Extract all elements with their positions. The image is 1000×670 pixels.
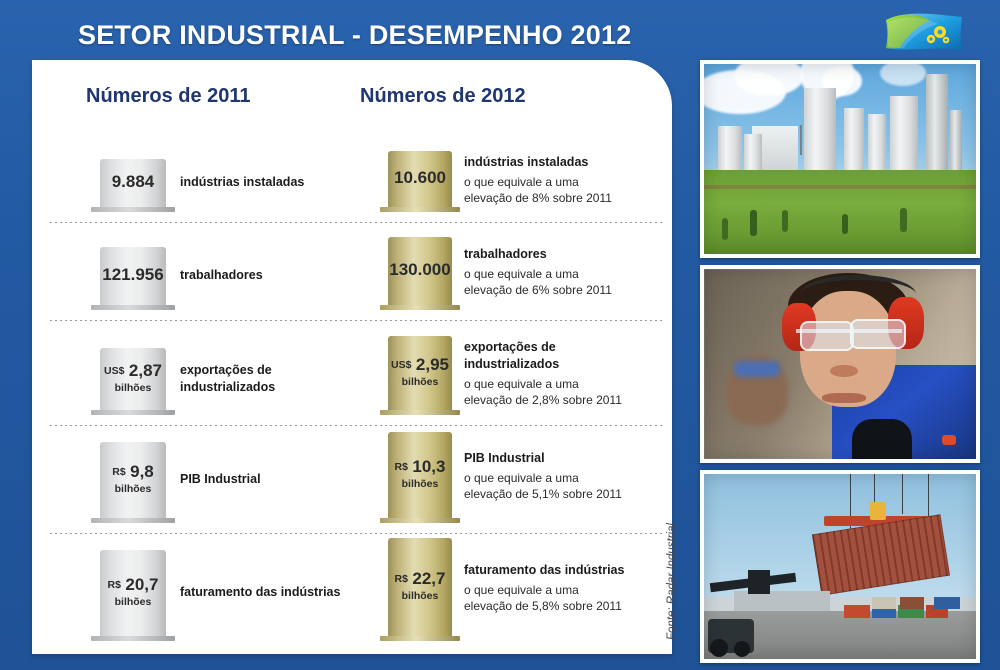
metric-name-2012: trabalhadores <box>464 246 612 263</box>
growth-note: o que equivale a umaelevação de 5,1% sob… <box>464 470 622 502</box>
bar-base-plate <box>380 207 461 212</box>
metric-name-2012: indústrias instaladas <box>464 154 612 171</box>
bar-value: US$ 2,87bilhões <box>100 362 166 394</box>
bar-base-plate <box>380 518 461 523</box>
metric-row: US$ 2,87bilhõesUS$ 2,95bilhõesexportaçõe… <box>32 321 672 426</box>
bar-base-plate <box>91 305 174 310</box>
label-2011: exportações deindustrializados <box>180 362 275 395</box>
value-number: 20,7 <box>125 575 158 594</box>
currency-label: R$ <box>395 461 408 473</box>
currency-label: R$ <box>112 466 125 478</box>
value-number: 9.884 <box>112 172 155 191</box>
value-number: 2,87 <box>129 361 162 380</box>
bar-2011: R$ 9,8bilhões <box>100 442 166 518</box>
page-title: SETOR INDUSTRIAL - DESEMPENHO 2012 <box>78 20 631 51</box>
bar-base-plate <box>91 410 174 415</box>
source-note: Fonte: Radar Industrial <box>666 523 678 640</box>
value-unit: bilhões <box>388 479 452 490</box>
bar-2012: R$ 10,3bilhões <box>388 432 452 518</box>
bar-value: R$ 20,7bilhões <box>100 576 166 608</box>
value-unit: bilhões <box>100 383 166 394</box>
photo-port-container-crane <box>700 470 980 663</box>
currency-label: US$ <box>104 365 124 377</box>
bar-2011: 121.956 <box>100 247 166 305</box>
bar-base-plate <box>380 305 461 310</box>
value-number: 10.600 <box>394 168 446 187</box>
value-unit: bilhões <box>100 597 166 608</box>
growth-note: o que equivale a umaelevação de 8% sobre… <box>464 174 612 206</box>
bar-2012: R$ 22,7bilhões <box>388 538 452 636</box>
metric-row: R$ 20,7bilhõesR$ 22,7bilhõesfaturamento … <box>32 534 672 652</box>
metric-name-2012: exportações deindustrializados <box>464 339 622 372</box>
value-number: 22,7 <box>412 569 445 588</box>
currency-label: R$ <box>395 573 408 585</box>
bar-value: US$ 2,95bilhões <box>388 356 452 388</box>
metric-name-2011: faturamento das indústrias <box>180 584 340 601</box>
label-2012: trabalhadoreso que equivale a umaelevaçã… <box>464 246 612 299</box>
value-number: 130.000 <box>389 260 450 279</box>
value-number: 9,8 <box>130 462 154 481</box>
bar-2012: US$ 2,95bilhões <box>388 336 452 410</box>
bar-value: 10.600 <box>388 169 452 188</box>
state-flag-gears-logo <box>874 8 974 56</box>
bar-2011: US$ 2,87bilhões <box>100 348 166 410</box>
label-2012: exportações deindustrializadoso que equi… <box>464 339 622 408</box>
bar-value: R$ 9,8bilhões <box>100 463 166 495</box>
metric-name-2011: PIB Industrial <box>180 471 261 488</box>
label-2011: trabalhadores <box>180 267 263 284</box>
metric-name-2011: exportações deindustrializados <box>180 362 275 395</box>
data-panel: Números de 2011 Números de 2012 9.88410.… <box>32 60 672 654</box>
bar-base-plate <box>91 518 174 523</box>
metric-rows: 9.88410.600indústrias instaladasindústri… <box>32 128 672 652</box>
value-unit: bilhões <box>388 591 452 602</box>
label-2012: faturamento das indústriaso que equivale… <box>464 562 624 615</box>
infographic-poster: SETOR INDUSTRIAL - DESEMPENHO 2012 <box>0 0 1000 670</box>
bar-value: 9.884 <box>100 173 166 192</box>
bar-2012: 130.000 <box>388 237 452 305</box>
photo-industrial-plant <box>700 60 980 258</box>
bar-2011: 9.884 <box>100 159 166 207</box>
metric-name-2011: trabalhadores <box>180 267 263 284</box>
value-unit: bilhões <box>100 484 166 495</box>
growth-note: o que equivale a umaelevação de 5,8% sob… <box>464 582 624 614</box>
metric-name-2011: indústrias instaladas <box>180 174 304 191</box>
bar-value: R$ 10,3bilhões <box>388 458 452 490</box>
value-unit: bilhões <box>388 377 452 388</box>
bar-value: R$ 22,7bilhões <box>388 570 452 602</box>
column-heading-2011: Números de 2011 <box>86 85 251 108</box>
growth-note: o que equivale a umaelevação de 6% sobre… <box>464 266 612 298</box>
column-heading-2012: Números de 2012 <box>360 85 526 108</box>
bar-base-plate <box>380 410 461 415</box>
label-2012: indústrias instaladaso que equivale a um… <box>464 154 612 207</box>
value-number: 2,95 <box>416 355 449 374</box>
metric-row: R$ 9,8bilhõesR$ 10,3bilhõesPIB Industria… <box>32 426 672 534</box>
bar-value: 121.956 <box>100 266 166 285</box>
bar-2012: 10.600 <box>388 151 452 207</box>
metric-row: 121.956130.000trabalhadorestrabalhadores… <box>32 223 672 321</box>
metric-name-2012: PIB Industrial <box>464 450 622 467</box>
growth-note: o que equivale a umaelevação de 2,8% sob… <box>464 376 622 408</box>
bar-base-plate <box>91 207 174 212</box>
value-number: 121.956 <box>102 265 163 284</box>
value-number: 10,3 <box>412 457 445 476</box>
photo-factory-worker <box>700 265 980 463</box>
metric-row: 9.88410.600indústrias instaladasindústri… <box>32 128 672 223</box>
bar-base-plate <box>380 636 461 641</box>
bar-2011: R$ 20,7bilhões <box>100 550 166 636</box>
metric-name-2012: faturamento das indústrias <box>464 562 624 579</box>
bar-value: 130.000 <box>388 261 452 280</box>
bar-base-plate <box>91 636 174 641</box>
currency-label: R$ <box>108 579 121 591</box>
label-2011: PIB Industrial <box>180 471 261 488</box>
label-2012: PIB Industrialo que equivale a umaelevaç… <box>464 450 622 503</box>
label-2011: faturamento das indústrias <box>180 584 340 601</box>
currency-label: US$ <box>391 359 411 371</box>
label-2011: indústrias instaladas <box>180 174 304 191</box>
